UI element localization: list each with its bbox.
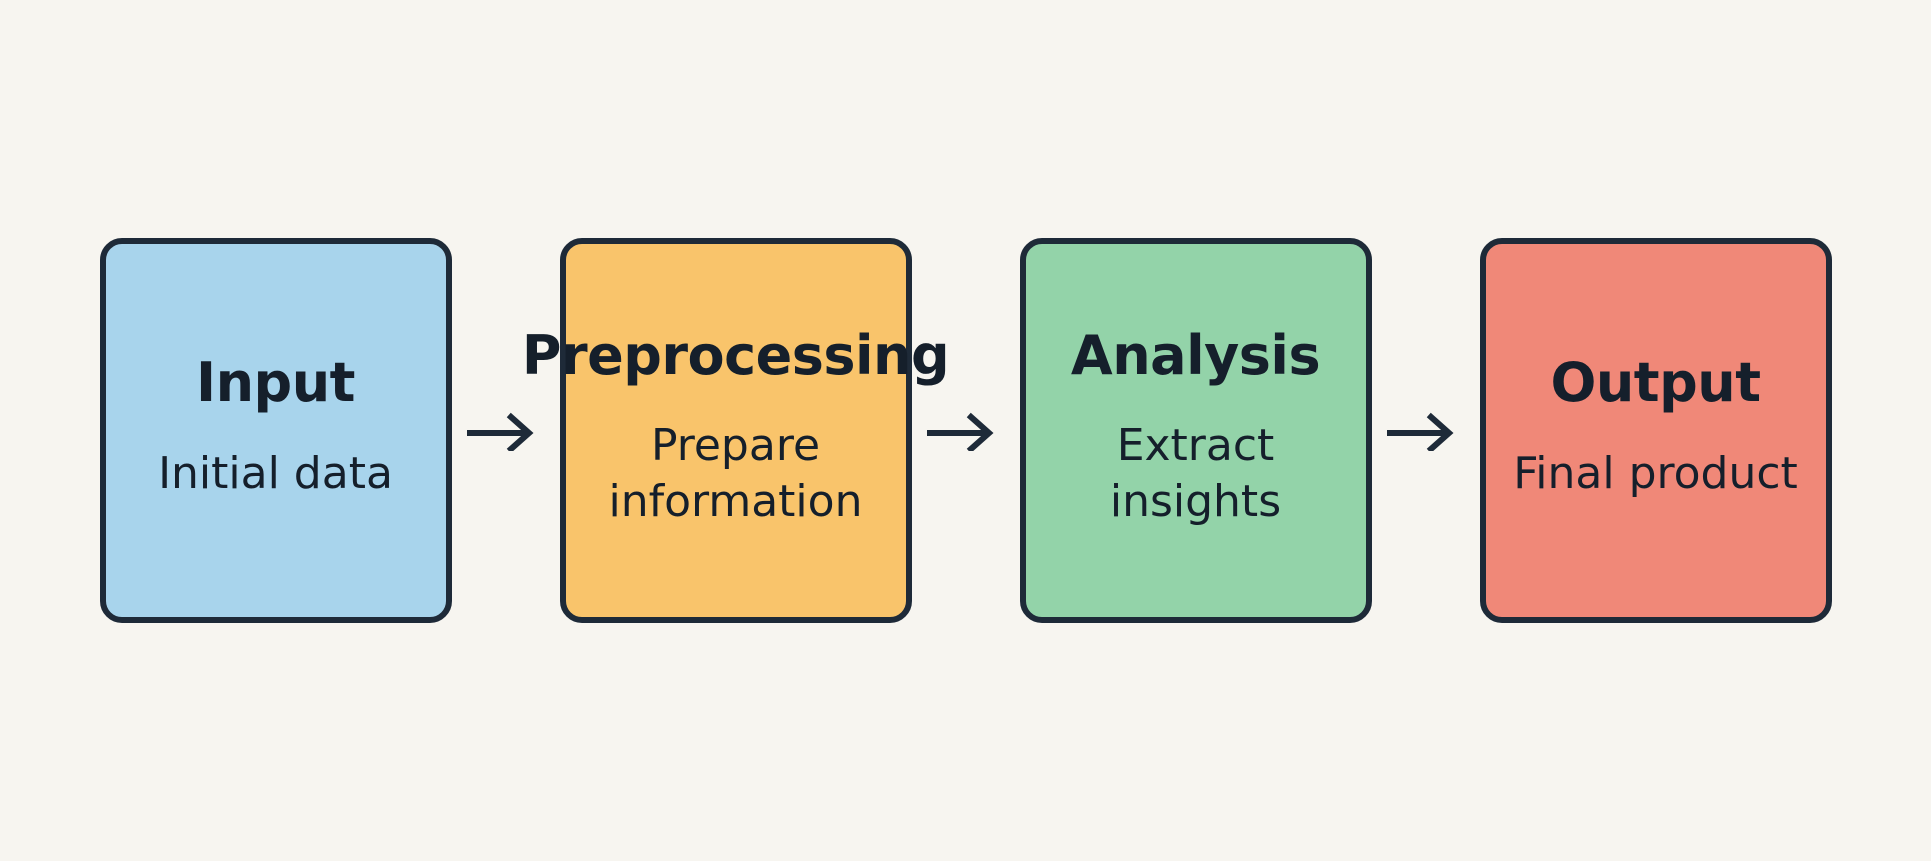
stage-subtitle-output: Final product <box>1513 446 1798 501</box>
arrow-right-icon <box>467 411 545 451</box>
stage-subtitle-analysis: Extract insights <box>1040 418 1352 529</box>
flow-stage-row: Input Initial data Preprocessing Prepare… <box>100 238 1832 623</box>
stage-title-analysis: Analysis <box>1071 328 1320 385</box>
arrow-right-icon <box>1387 411 1465 451</box>
stage-title-input: Input <box>196 355 355 412</box>
arrow-connector-analysis-to-output <box>1372 411 1480 451</box>
arrow-connector-preprocessing-to-analysis <box>912 411 1020 451</box>
stage-box-output[interactable]: Output Final product <box>1480 238 1832 623</box>
stage-box-analysis[interactable]: Analysis Extract insights <box>1020 238 1372 623</box>
process-flow-diagram: Input Initial data Preprocessing Prepare… <box>0 0 1931 861</box>
stage-subtitle-input: Initial data <box>158 446 393 501</box>
arrow-connector-input-to-preprocessing <box>452 411 560 451</box>
stage-box-preprocessing[interactable]: Preprocessing Prepare information <box>560 238 912 623</box>
stage-title-preprocessing: Preprocessing <box>522 328 949 385</box>
stage-title-output: Output <box>1550 355 1760 412</box>
arrow-right-icon <box>927 411 1005 451</box>
stage-box-input[interactable]: Input Initial data <box>100 238 452 623</box>
stage-subtitle-preprocessing: Prepare information <box>580 418 892 529</box>
